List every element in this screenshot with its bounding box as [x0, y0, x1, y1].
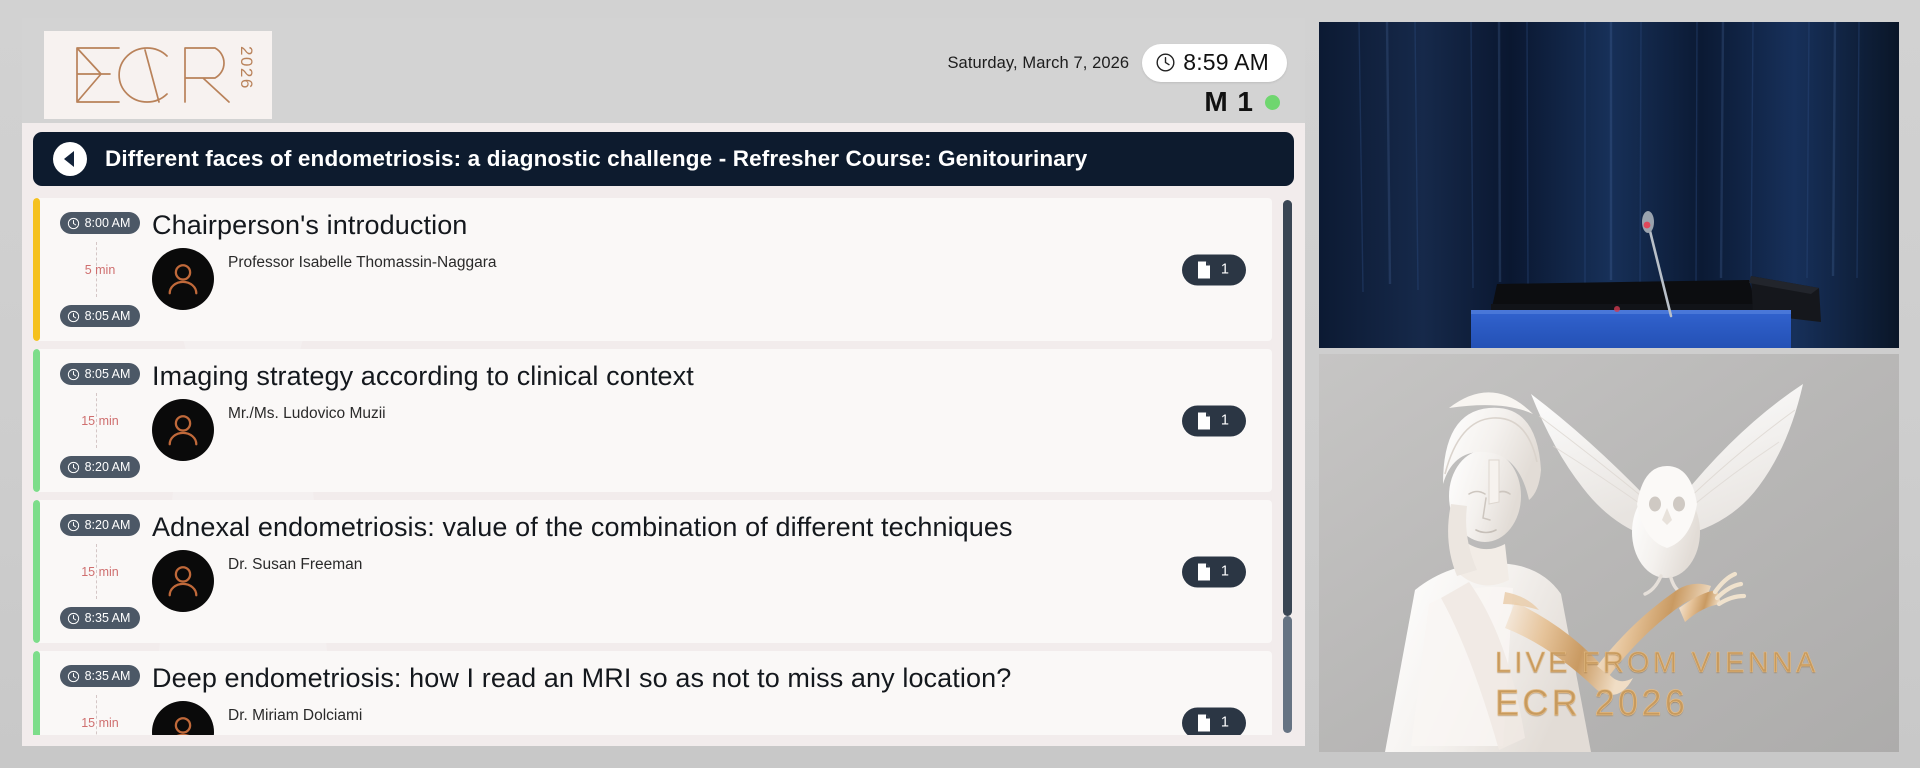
- talk-end-time-label: 8:20 AM: [85, 460, 131, 474]
- scrollbar-thumb[interactable]: [1283, 200, 1292, 616]
- room-indicator: M 1: [1204, 86, 1280, 118]
- stage-scene: [1319, 22, 1899, 348]
- talk-start-time-label: 8:20 AM: [85, 518, 131, 532]
- person-avatar-icon: [164, 411, 202, 449]
- talk-end-time-label: 8:05 AM: [85, 309, 131, 323]
- talk-end-time: 8:35 AM: [60, 607, 141, 629]
- talk-title: Deep endometriosis: how I read an MRI so…: [152, 663, 1272, 695]
- talk-documents-count: 1: [1221, 262, 1229, 278]
- talk-speaker-line: Dr. Susan Freeman: [152, 550, 1272, 612]
- talk-end-time-label: 8:35 AM: [85, 611, 131, 625]
- talk-speaker-line: Dr. Miriam Dolciami: [152, 701, 1272, 735]
- ecr-logo: 2026: [44, 31, 272, 119]
- talk-row[interactable]: 8:05 AM15 min8:20 AMImaging strategy acc…: [33, 349, 1272, 492]
- talk-main: Adnexal endometriosis: value of the comb…: [152, 500, 1272, 643]
- talk-duration: 15 min: [81, 414, 119, 428]
- session-title: Different faces of endometriosis: a diag…: [105, 146, 1087, 172]
- talk-row[interactable]: 8:20 AM15 min8:35 AMAdnexal endometriosi…: [33, 500, 1272, 643]
- talk-speaker-name: Mr./Ms. Ludovico Muzii: [228, 405, 386, 423]
- session-title-bar: Different faces of endometriosis: a diag…: [33, 132, 1294, 186]
- clock-icon: [67, 310, 80, 323]
- talk-time-rail: 8:05 AM15 min8:20 AM: [40, 349, 152, 492]
- talk-duration: 15 min: [81, 565, 119, 579]
- talk-end-time: 8:20 AM: [60, 456, 141, 478]
- talk-accent-bar: [33, 651, 40, 735]
- talk-speaker-name: Professor Isabelle Thomassin-Naggara: [228, 254, 497, 272]
- talk-time-rail: 8:00 AM5 min8:05 AM: [40, 198, 152, 341]
- clock-icon: [67, 461, 80, 474]
- live-stage-video-feed[interactable]: [1319, 22, 1899, 348]
- talk-start-time: 8:00 AM: [60, 212, 141, 234]
- clock-icon: [67, 519, 80, 532]
- talk-speaker-line: Professor Isabelle Thomassin-Naggara: [152, 248, 1272, 310]
- talk-duration: 5 min: [85, 263, 116, 277]
- talk-start-time-label: 8:35 AM: [85, 669, 131, 683]
- schedule-panel: 2026 Saturday, March 7, 2026 8:59 AM M 1: [22, 18, 1305, 746]
- current-time-pill: 8:59 AM: [1142, 44, 1287, 82]
- current-date: Saturday, March 7, 2026: [947, 54, 1129, 73]
- ecr-promo-athena: LIVE FROM VIENNA ECR 2026: [1319, 354, 1899, 752]
- talk-list-scrollbar[interactable]: [1283, 200, 1292, 733]
- talk-title: Imaging strategy according to clinical c…: [152, 361, 1272, 393]
- talk-list-wrapper: 8:00 AM5 min8:05 AMChairperson's introdu…: [33, 198, 1294, 735]
- document-icon: [1196, 713, 1212, 732]
- talk-start-time: 8:20 AM: [60, 514, 141, 536]
- panel-header: 2026 Saturday, March 7, 2026 8:59 AM M 1: [22, 18, 1305, 123]
- talk-title: Chairperson's introduction: [152, 210, 1272, 242]
- talk-time-rail: 8:35 AM15 min8:50 AM: [40, 651, 152, 735]
- app-root: 2026 Saturday, March 7, 2026 8:59 AM M 1: [0, 0, 1920, 768]
- athena-owl-artwork: [1319, 354, 1899, 752]
- datetime-display: Saturday, March 7, 2026 8:59 AM: [947, 44, 1287, 82]
- ecr-logo-mark: 2026: [63, 40, 253, 110]
- right-column: LIVE FROM VIENNA ECR 2026: [1319, 22, 1899, 746]
- document-icon: [1196, 562, 1212, 581]
- scrollbar-rest: [1283, 616, 1292, 733]
- talk-row[interactable]: 8:35 AM15 min8:50 AMDeep endometriosis: …: [33, 651, 1272, 735]
- talk-end-time: 8:05 AM: [60, 305, 141, 327]
- talk-accent-bar: [33, 198, 40, 341]
- person-avatar-icon: [164, 713, 202, 735]
- person-avatar-icon: [164, 260, 202, 298]
- talk-start-time: 8:05 AM: [60, 363, 141, 385]
- avatar: [152, 248, 214, 310]
- panel-body: Different faces of endometriosis: a diag…: [22, 123, 1305, 746]
- talk-documents-count: 1: [1221, 715, 1229, 731]
- talk-row[interactable]: 8:00 AM5 min8:05 AMChairperson's introdu…: [33, 198, 1272, 341]
- back-arrow-icon[interactable]: [53, 142, 87, 176]
- live-status-dot: [1265, 95, 1280, 110]
- talk-title: Adnexal endometriosis: value of the comb…: [152, 512, 1272, 544]
- talk-documents-badge[interactable]: 1: [1182, 254, 1246, 285]
- talk-duration: 15 min: [81, 716, 119, 730]
- room-label: M 1: [1204, 86, 1254, 118]
- talk-start-time-label: 8:00 AM: [85, 216, 131, 230]
- talk-speaker-line: Mr./Ms. Ludovico Muzii: [152, 399, 1272, 461]
- clock-icon: [67, 670, 80, 683]
- talk-speaker-name: Dr. Susan Freeman: [228, 556, 362, 574]
- talk-main: Chairperson's introductionProfessor Isab…: [152, 198, 1272, 341]
- clock-icon: [67, 368, 80, 381]
- avatar: [152, 701, 214, 735]
- talk-documents-count: 1: [1221, 564, 1229, 580]
- talk-speaker-name: Dr. Miriam Dolciami: [228, 707, 362, 725]
- talk-accent-bar: [33, 349, 40, 492]
- talk-documents-badge[interactable]: 1: [1182, 707, 1246, 735]
- talk-time-rail: 8:20 AM15 min8:35 AM: [40, 500, 152, 643]
- svg-text:2026: 2026: [237, 46, 256, 90]
- document-icon: [1196, 411, 1212, 430]
- clock-icon: [67, 612, 80, 625]
- document-icon: [1196, 260, 1212, 279]
- talk-documents-count: 1: [1221, 413, 1229, 429]
- talk-start-time: 8:35 AM: [60, 665, 141, 687]
- clock-icon: [1155, 52, 1176, 73]
- talk-main: Deep endometriosis: how I read an MRI so…: [152, 651, 1272, 735]
- avatar: [152, 399, 214, 461]
- avatar: [152, 550, 214, 612]
- talk-list[interactable]: 8:00 AM5 min8:05 AMChairperson's introdu…: [33, 198, 1294, 735]
- current-time: 8:59 AM: [1183, 49, 1269, 76]
- talk-documents-badge[interactable]: 1: [1182, 405, 1246, 436]
- talk-main: Imaging strategy according to clinical c…: [152, 349, 1272, 492]
- talk-documents-badge[interactable]: 1: [1182, 556, 1246, 587]
- talk-accent-bar: [33, 500, 40, 643]
- person-avatar-icon: [164, 562, 202, 600]
- talk-start-time-label: 8:05 AM: [85, 367, 131, 381]
- clock-icon: [67, 217, 80, 230]
